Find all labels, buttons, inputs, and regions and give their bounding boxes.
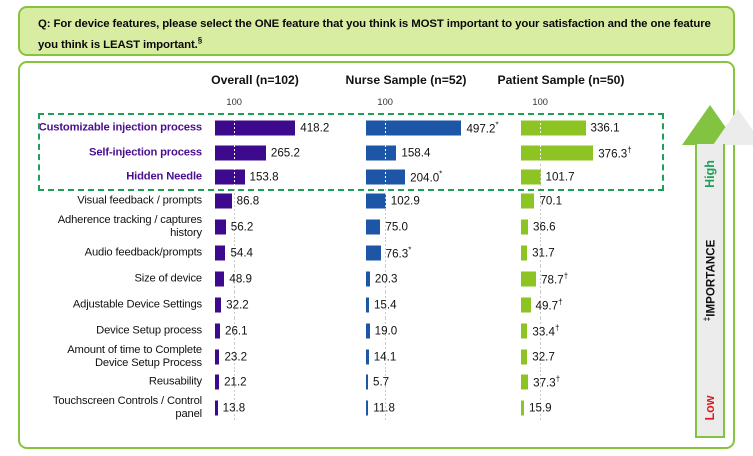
bar-value-nurse: 75.0 — [385, 220, 408, 233]
bar-track-overall: 48.9 — [215, 266, 365, 292]
row-label: Visual feedback / prompts — [32, 194, 202, 207]
bar-track-nurse: 15.4 — [366, 292, 516, 318]
gridline-100-overall — [234, 141, 235, 164]
bar-track-nurse: 19.0 — [366, 318, 516, 343]
bar-value-nurse: 5.7 — [373, 376, 389, 389]
bar-track-patient: 15.9 — [521, 394, 671, 421]
significance-marker: † — [564, 272, 568, 281]
column-header-patient: Patient Sample (n=50) — [481, 73, 641, 87]
bar-patient[interactable] — [521, 298, 531, 313]
chart-row: Adjustable Device Settings32.215.449.7† — [20, 292, 737, 318]
bar-value-patient: 101.7 — [546, 170, 575, 183]
bar-track-nurse: 75.0 — [366, 213, 516, 240]
gridline-100-nurse — [385, 189, 386, 213]
bar-value-patient: 376.3† — [598, 145, 631, 160]
bar-nurse[interactable] — [366, 400, 368, 415]
bar-overall[interactable] — [215, 349, 219, 364]
bar-value-patient: 70.1 — [539, 195, 562, 208]
bar-track-overall: 13.8 — [215, 394, 365, 421]
row-label: Customizable injection process — [32, 121, 202, 134]
row-label: Adjustable Device Settings — [32, 298, 202, 311]
bar-overall[interactable] — [215, 298, 221, 313]
chart-row: Reusability21.25.737.3† — [20, 370, 737, 394]
bar-track-patient: 36.6 — [521, 213, 671, 240]
bar-nurse[interactable] — [366, 219, 380, 234]
bar-track-overall: 32.2 — [215, 292, 365, 318]
bar-value-nurse: 20.3 — [375, 273, 398, 286]
bar-track-patient: 31.7 — [521, 240, 671, 266]
bar-value-nurse: 497.2* — [466, 121, 498, 136]
chart-row: Self-injection process265.2158.4376.3† — [20, 141, 737, 164]
row-label: Self-injection process — [32, 146, 202, 159]
bar-track-nurse: 14.1 — [366, 343, 516, 370]
gridline-100-overall — [234, 164, 235, 189]
bar-value-patient: 37.3† — [533, 375, 560, 390]
significance-marker: * — [439, 169, 442, 178]
gridline-100-patient — [540, 164, 541, 189]
bar-value-nurse: 158.4 — [401, 146, 430, 159]
gridline-100-patient — [540, 115, 541, 141]
bar-track-patient: 37.3† — [521, 370, 671, 394]
bar-nurse[interactable] — [366, 194, 386, 209]
chart-row: Customizable injection process418.2497.2… — [20, 115, 737, 141]
bar-patient[interactable] — [521, 219, 528, 234]
bar-track-overall: 418.2 — [215, 115, 365, 141]
bar-overall[interactable] — [215, 375, 219, 390]
row-label: Adherence tracking / captures history — [32, 213, 202, 239]
gridline-100-nurse — [385, 141, 386, 164]
axis-tick-patient: 100 — [500, 97, 580, 107]
bar-track-nurse: 76.3* — [366, 240, 516, 266]
row-label: Device Setup process — [32, 324, 202, 337]
bar-value-overall: 48.9 — [229, 273, 252, 286]
row-label: Hidden Needle — [32, 170, 202, 183]
bar-value-nurse: 19.0 — [375, 324, 398, 337]
axis-tick-nurse: 100 — [345, 97, 425, 107]
chart-row: Device Setup process26.119.033.4† — [20, 318, 737, 343]
significance-marker: * — [408, 246, 411, 255]
bar-track-overall: 23.2 — [215, 343, 365, 370]
column-header-overall: Overall (n=102) — [175, 73, 335, 87]
arrow-low-label: Low — [703, 396, 717, 421]
bar-track-overall: 265.2 — [215, 141, 365, 164]
chart-row: Visual feedback / prompts86.8102.970.1 — [20, 189, 737, 213]
bar-nurse[interactable] — [366, 375, 368, 390]
bar-track-patient: 101.7 — [521, 164, 671, 189]
bar-track-patient: 33.4† — [521, 318, 671, 343]
question-text: Q: For device features, please select th… — [38, 17, 719, 53]
bar-overall[interactable] — [215, 194, 232, 209]
bar-value-patient: 49.7† — [536, 298, 563, 313]
bar-overall[interactable] — [215, 145, 266, 160]
bar-nurse[interactable] — [366, 145, 396, 160]
chart-row: Touchscreen Controls / Control panel13.8… — [20, 394, 737, 421]
question-banner: Q: For device features, please select th… — [18, 6, 735, 56]
bar-patient[interactable] — [521, 375, 528, 390]
gridline-100-overall — [234, 115, 235, 141]
bar-value-overall: 265.2 — [271, 146, 300, 159]
bar-track-patient: 70.1 — [521, 189, 671, 213]
bar-patient[interactable] — [521, 246, 527, 261]
significance-marker: † — [627, 145, 631, 154]
gridline-100-patient — [540, 141, 541, 164]
bar-value-nurse: 102.9 — [391, 195, 420, 208]
bar-overall[interactable] — [215, 323, 220, 338]
chart-row: Hidden Needle153.8204.0*101.7 — [20, 164, 737, 189]
bar-value-nurse: 15.4 — [374, 299, 397, 312]
bar-overall[interactable] — [215, 169, 245, 184]
chart-row: Amount of time to Complete Device Setup … — [20, 343, 737, 370]
bar-value-nurse: 76.3* — [386, 246, 412, 261]
bar-overall[interactable] — [215, 400, 218, 415]
bar-track-nurse: 11.8 — [366, 394, 516, 421]
bar-track-overall: 153.8 — [215, 164, 365, 189]
gridline-100-nurse — [385, 164, 386, 189]
bar-patient[interactable] — [521, 272, 536, 287]
bar-value-overall: 32.2 — [226, 299, 249, 312]
significance-marker: † — [555, 323, 559, 332]
bar-track-nurse: 497.2* — [366, 115, 516, 141]
bar-value-patient: 32.7 — [532, 350, 555, 363]
row-label: Touchscreen Controls / Control panel — [32, 394, 202, 420]
question-body: Q: For device features, please select th… — [38, 18, 711, 50]
question-footnote-marker: § — [198, 36, 202, 45]
bar-track-overall: 26.1 — [215, 318, 365, 343]
arrow-high-label: High — [703, 160, 717, 188]
arrow-importance-text: IMPORTANCE — [704, 240, 717, 317]
bar-value-overall: 54.4 — [230, 247, 253, 260]
bar-value-overall: 86.8 — [237, 195, 260, 208]
row-label: Audio feedback/prompts — [32, 246, 202, 259]
bar-value-patient: 33.4† — [532, 323, 559, 338]
significance-marker: * — [495, 121, 498, 130]
bar-nurse[interactable] — [366, 349, 369, 364]
bar-patient[interactable] — [521, 145, 593, 160]
bar-value-patient: 336.1 — [591, 122, 620, 135]
bar-track-patient: 336.1 — [521, 115, 671, 141]
bar-track-nurse: 102.9 — [366, 189, 516, 213]
slide-root: Q: For device features, please select th… — [0, 0, 753, 456]
bar-value-overall: 56.2 — [231, 220, 254, 233]
bar-overall[interactable] — [215, 272, 224, 287]
bar-patient[interactable] — [521, 121, 586, 136]
bar-nurse[interactable] — [366, 298, 369, 313]
bar-value-overall: 153.8 — [250, 170, 279, 183]
importance-arrow: High ‡IMPORTANCE Low — [682, 105, 738, 441]
gridline-100-overall — [234, 189, 235, 213]
bar-track-nurse: 204.0* — [366, 164, 516, 189]
bar-overall[interactable] — [215, 219, 226, 234]
bar-value-overall: 23.2 — [224, 350, 247, 363]
bar-value-overall: 26.1 — [225, 324, 248, 337]
bar-track-overall: 21.2 — [215, 370, 365, 394]
bar-value-nurse: 204.0* — [410, 169, 442, 184]
gridline-100-nurse — [385, 115, 386, 141]
bar-patient[interactable] — [521, 349, 527, 364]
bar-track-overall: 56.2 — [215, 213, 365, 240]
bar-track-patient: 376.3† — [521, 141, 671, 164]
bar-nurse[interactable] — [366, 246, 381, 261]
bar-value-patient: 36.6 — [533, 220, 556, 233]
arrow-importance-label: ‡IMPORTANCE — [703, 240, 718, 322]
bar-overall[interactable] — [215, 246, 225, 261]
arrow-importance-marker: ‡ — [703, 317, 712, 321]
bar-value-patient: 15.9 — [529, 401, 552, 414]
row-label: Size of device — [32, 272, 202, 285]
bar-track-patient: 49.7† — [521, 292, 671, 318]
bar-patient[interactable] — [521, 323, 527, 338]
significance-marker: † — [558, 298, 562, 307]
bar-patient[interactable] — [521, 194, 534, 209]
bar-overall[interactable] — [215, 121, 295, 136]
bar-value-patient: 78.7† — [541, 272, 568, 287]
chart-row: Audio feedback/prompts54.476.3*31.7 — [20, 240, 737, 266]
arrow-head-outline-icon — [682, 105, 738, 145]
chart-panel: Overall (n=102)100Nurse Sample (n=52)100… — [18, 61, 735, 449]
row-label: Reusability — [32, 375, 202, 388]
bar-nurse[interactable] — [366, 121, 461, 136]
significance-marker: † — [556, 375, 560, 384]
chart-row: Size of device48.920.378.7† — [20, 266, 737, 292]
bar-nurse[interactable] — [366, 272, 370, 287]
bar-value-overall: 13.8 — [223, 401, 246, 414]
bar-track-nurse: 5.7 — [366, 370, 516, 394]
bar-patient[interactable] — [521, 169, 541, 184]
bar-value-patient: 31.7 — [532, 247, 555, 260]
bar-track-nurse: 20.3 — [366, 266, 516, 292]
bar-value-overall: 418.2 — [300, 122, 329, 135]
row-label: Amount of time to Complete Device Setup … — [32, 343, 202, 369]
bar-track-patient: 32.7 — [521, 343, 671, 370]
chart-row: Adherence tracking / captures history56.… — [20, 213, 737, 240]
bar-nurse[interactable] — [366, 323, 370, 338]
bar-track-overall: 54.4 — [215, 240, 365, 266]
bar-patient[interactable] — [521, 400, 524, 415]
bar-value-nurse: 11.8 — [373, 401, 395, 414]
chart-rows: Customizable injection process418.2497.2… — [20, 115, 737, 421]
axis-tick-overall: 100 — [194, 97, 274, 107]
bar-value-overall: 21.2 — [224, 376, 247, 389]
column-header-nurse: Nurse Sample (n=52) — [326, 73, 486, 87]
arrow-head-fill-icon — [713, 109, 753, 145]
bar-track-nurse: 158.4 — [366, 141, 516, 164]
bar-value-nurse: 14.1 — [374, 350, 397, 363]
bar-track-patient: 78.7† — [521, 266, 671, 292]
bar-track-overall: 86.8 — [215, 189, 365, 213]
